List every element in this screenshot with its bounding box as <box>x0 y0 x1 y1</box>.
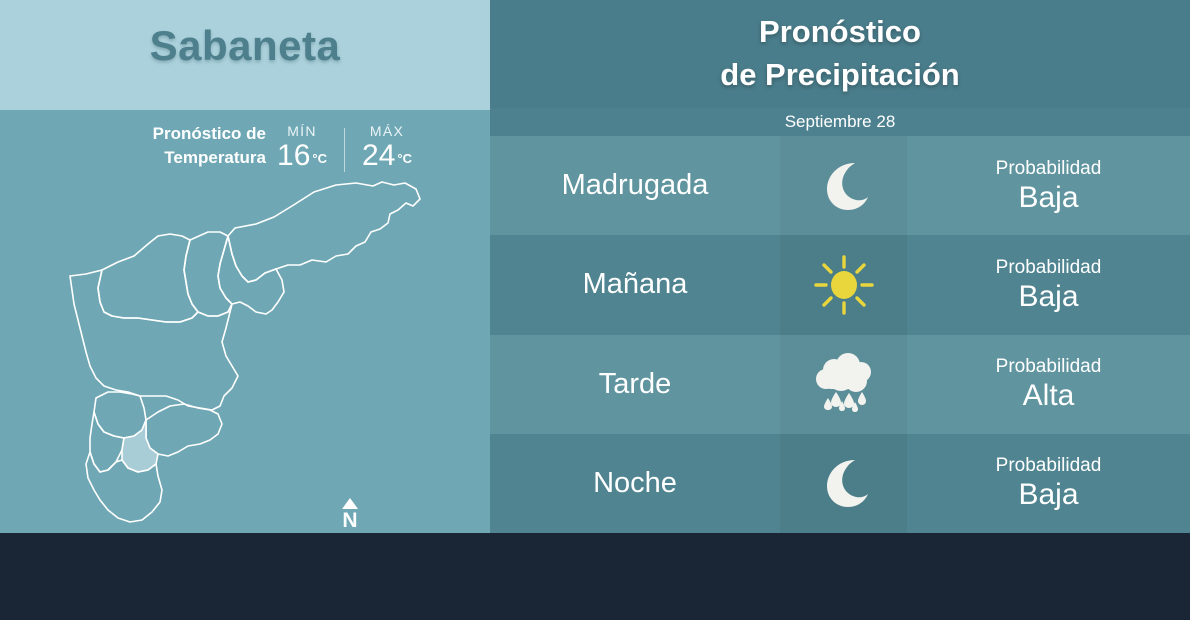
temperature-title-line2: Temperatura <box>164 148 266 167</box>
map-region-bello <box>98 234 198 322</box>
weather-icon-cell <box>780 434 907 533</box>
probability-label: Probabilidad <box>996 157 1102 181</box>
temperature-values: MÍN 16°C MÁX 24°C <box>272 122 417 175</box>
period-label: Tarde <box>490 335 780 434</box>
probability-label: Probabilidad <box>996 355 1102 379</box>
probability-label: Probabilidad <box>996 454 1102 478</box>
map-region-itagui <box>94 392 146 438</box>
max-value: 24 <box>362 140 395 172</box>
probability-cell: Probabilidad Baja <box>907 434 1190 533</box>
moon-icon <box>814 156 874 216</box>
right-panel: Pronóstico de Precipitación Septiembre 2… <box>490 0 1190 533</box>
weather-icon-cell <box>780 136 907 235</box>
table-row: Tarde <box>490 335 1190 434</box>
sun-icon <box>812 253 876 317</box>
north-arrow-icon: N <box>337 498 363 532</box>
table-row: Mañana <box>490 235 1190 334</box>
probability-value: Baja <box>1018 181 1078 215</box>
max-label: MÁX <box>370 122 404 140</box>
temperature-max: MÁX 24°C <box>357 122 417 175</box>
probability-cell: Probabilidad Baja <box>907 235 1190 334</box>
map-region-la-estrella <box>90 412 124 472</box>
valle-de-aburra-map: N <box>60 170 440 525</box>
table-row: Noche Probabilidad Baja <box>490 434 1190 533</box>
temperature-title-line1: Pronóstico de <box>153 124 266 143</box>
temperature-divider <box>344 128 345 172</box>
temperature-title: Pronóstico de Temperatura <box>96 122 266 170</box>
north-arrow-label: N <box>337 510 363 532</box>
footer: Con el apoyo de: Un proyecto de: SIATA e <box>0 533 1190 620</box>
map-region-envigado <box>146 404 222 456</box>
period-label: Noche <box>490 434 780 533</box>
weather-forecast-infographic: Sabaneta Pronóstico de Temperatura MÍN 1… <box>0 0 1190 620</box>
map-region-sabaneta-highlighted <box>122 420 158 472</box>
forecast-date: Septiembre 28 <box>490 108 1190 136</box>
precipitation-title-line2: de Precipitación <box>720 57 959 92</box>
forecast-rows: Madrugada Probabilidad Baja Mañana <box>490 136 1190 533</box>
probability-value: Baja <box>1018 478 1078 512</box>
map-svg <box>60 170 440 525</box>
precipitation-title: Pronóstico de Precipitación <box>490 10 1190 96</box>
min-label: MÍN <box>287 122 317 140</box>
moon-icon <box>814 453 874 513</box>
min-value: 16 <box>277 140 310 172</box>
map-region-girardota <box>218 236 284 314</box>
period-label: Madrugada <box>490 136 780 235</box>
weather-icon-cell <box>780 335 907 434</box>
probability-cell: Probabilidad Alta <box>907 335 1190 434</box>
left-panel: Sabaneta Pronóstico de Temperatura MÍN 1… <box>0 0 490 533</box>
page-title: Sabaneta <box>0 22 490 70</box>
probability-cell: Probabilidad Baja <box>907 136 1190 235</box>
period-label: Mañana <box>490 235 780 334</box>
table-row: Madrugada Probabilidad Baja <box>490 136 1190 235</box>
probability-label: Probabilidad <box>996 256 1102 280</box>
north-arrow-triangle <box>342 498 358 509</box>
weather-icon-cell <box>780 235 907 334</box>
map-region-medellin <box>70 270 238 410</box>
rain-cloud-icon <box>810 352 878 416</box>
probability-value: Baja <box>1018 280 1078 314</box>
probability-value: Alta <box>1023 379 1075 413</box>
map-region-barbosa <box>228 182 420 282</box>
temperature-min: MÍN 16°C <box>272 122 332 175</box>
precipitation-title-line1: Pronóstico <box>759 14 921 49</box>
